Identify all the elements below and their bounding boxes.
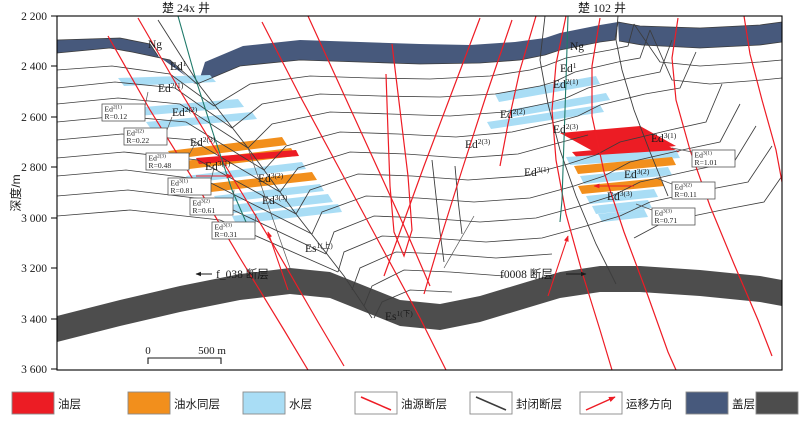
y-tick-label: 2 200 [21, 11, 47, 23]
y-tick-label: 3 600 [21, 364, 47, 376]
fault-label-f038: f_038 断层 [216, 267, 269, 281]
y-axis-title: 深度/m [8, 174, 23, 211]
callout-ratio: R=0.81 [171, 186, 194, 195]
formation-label: Ng [148, 39, 162, 51]
callout-ratio: R=0.22 [127, 136, 150, 145]
fault-label-f0008: f0008 断层 [500, 267, 553, 281]
y-axis: 2 200 2 400 2 600 2 800 3 000 3 200 3 40… [8, 11, 57, 376]
y-tick-label: 2 800 [21, 162, 47, 174]
y-axis-ticks [51, 16, 57, 369]
callout-ratio: R=0.31 [215, 230, 238, 239]
y-tick-label: 3 400 [21, 314, 47, 326]
callout-ratio: R=0.11 [675, 190, 698, 199]
scale-bar-end-label: 500 m [198, 345, 226, 357]
y-tick-label: 2 600 [21, 112, 47, 124]
callout-ratio: R=0.61 [193, 206, 216, 215]
formation-label: Ng [570, 41, 584, 53]
scale-bar-start-label: 0 [145, 345, 151, 357]
well-label-chu102: 楚 102 井 [578, 1, 626, 15]
y-tick-label: 3 200 [21, 263, 47, 275]
well-label-chu24x: 楚 24x 井 [162, 1, 210, 15]
y-tick-label: 3 000 [21, 213, 47, 225]
well-headers: 楚 24x 井 楚 102 井 [162, 1, 626, 15]
callout-ratio: R=0.71 [655, 216, 678, 225]
cross-section-figure: 2 200 2 400 2 600 2 800 3 000 3 200 3 40… [0, 0, 802, 423]
callout-ratio: R=1.01 [695, 158, 718, 167]
figure-svg: 2 200 2 400 2 600 2 800 3 000 3 200 3 40… [0, 0, 802, 423]
y-tick-label: 2 400 [21, 61, 47, 73]
callout-ratio: R=0.48 [149, 161, 172, 170]
callout-ratio: R=0.12 [105, 112, 128, 121]
